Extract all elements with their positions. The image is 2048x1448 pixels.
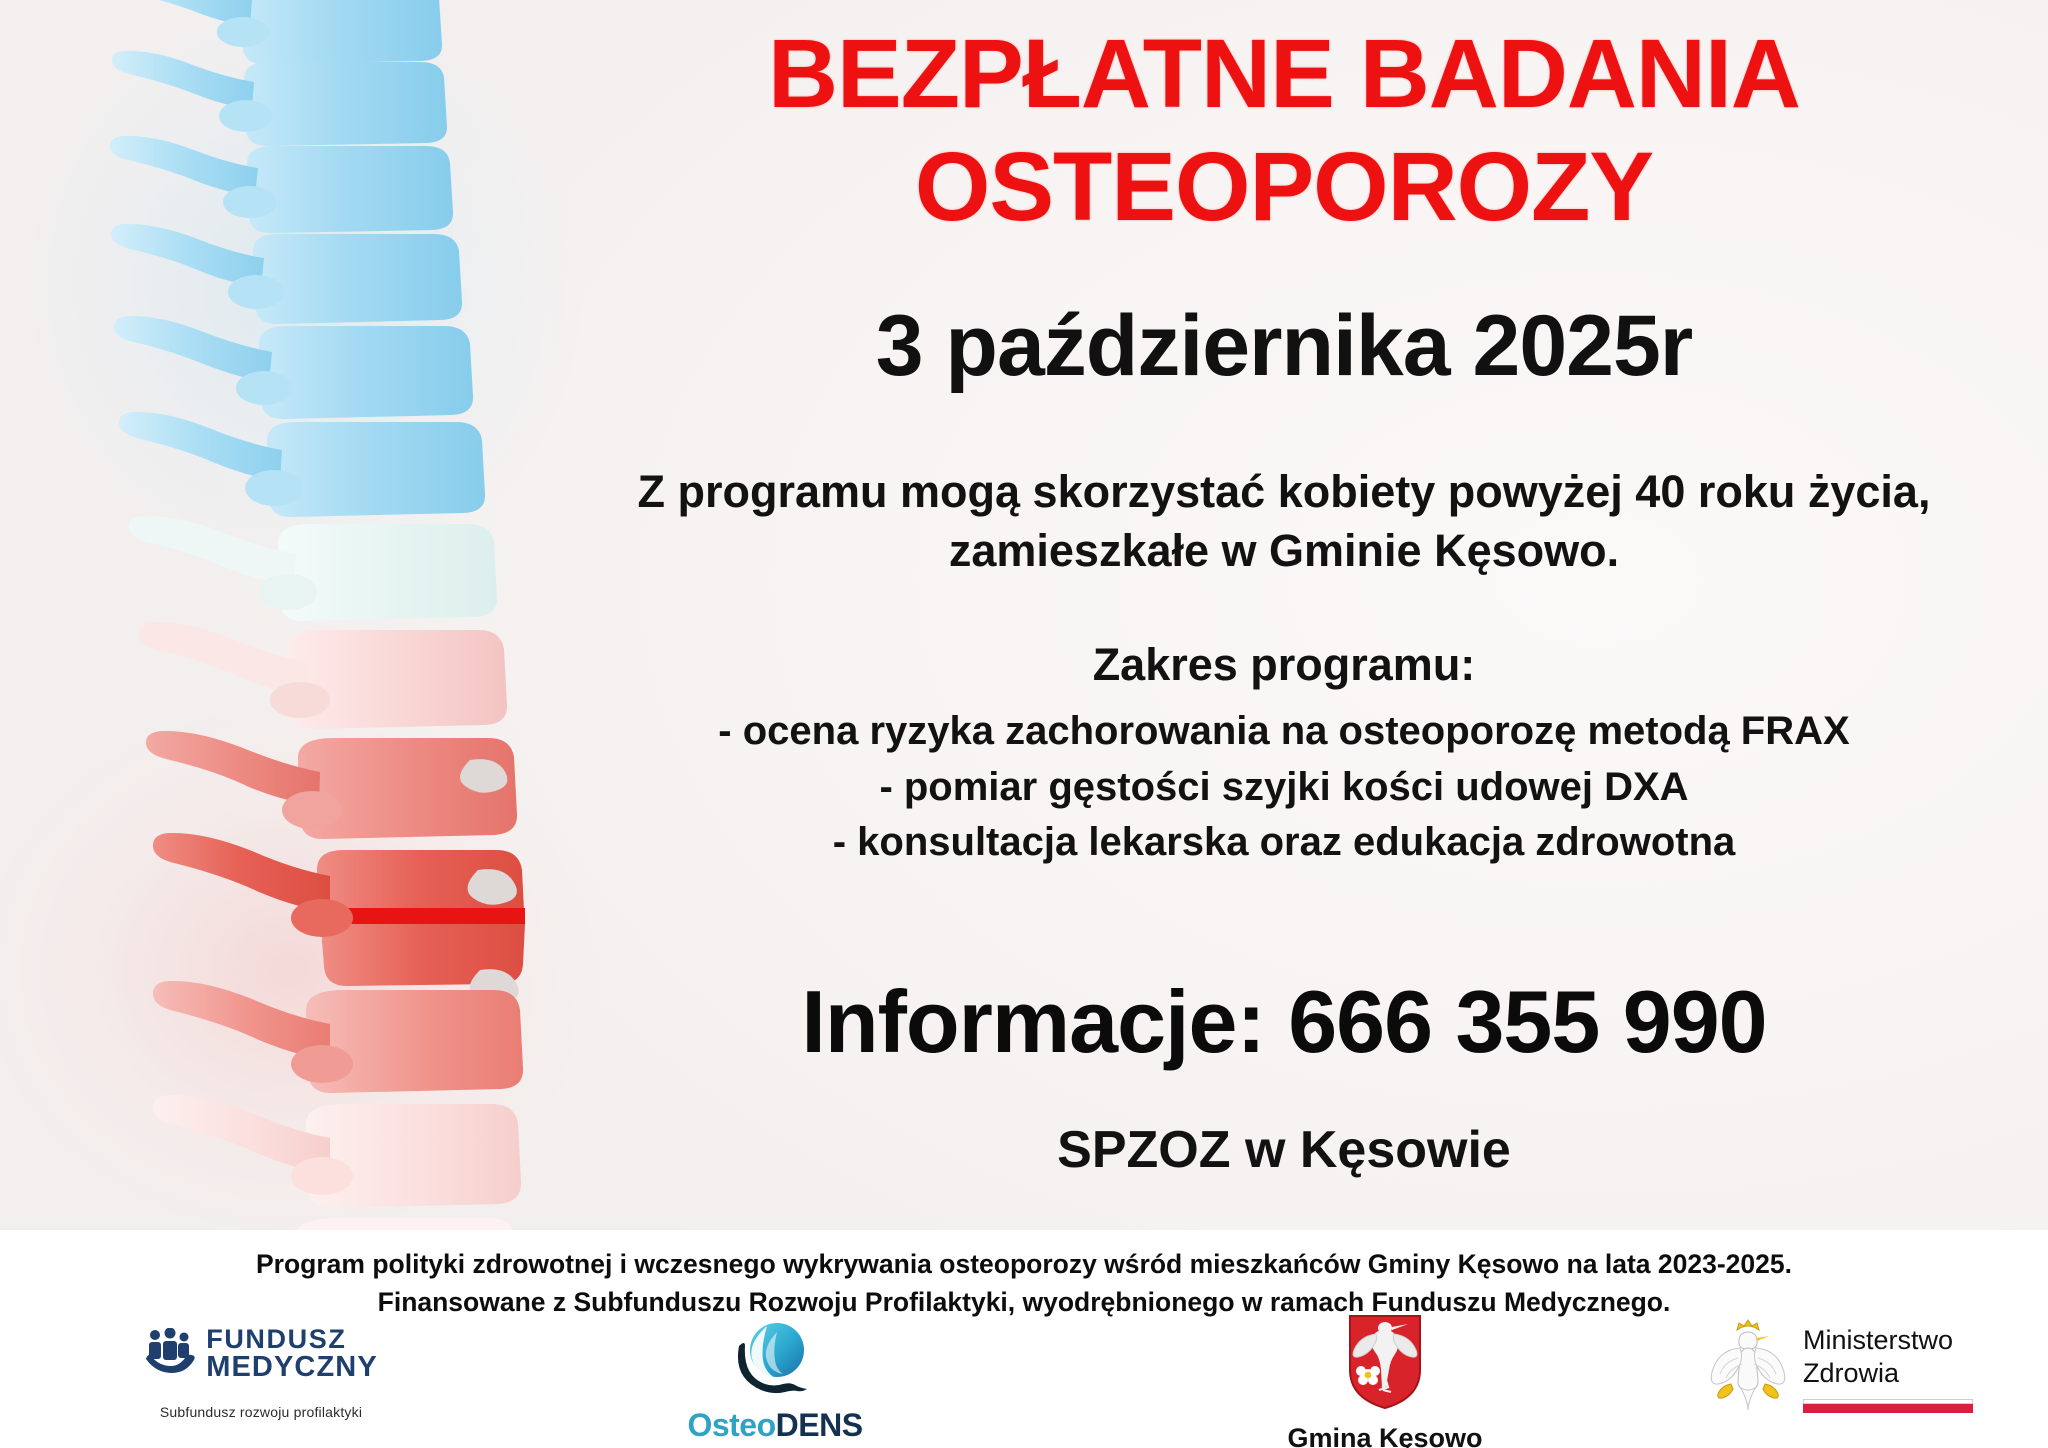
compressed-disc — [341, 908, 525, 924]
headline-line-1: BEZPŁATNE BADANIA — [768, 18, 1800, 131]
logo-gmina-kesowo: Gmina Kęsowo — [1285, 1312, 1485, 1448]
ministerstwo-zdrowia-line-2: Zdrowia — [1803, 1357, 1973, 1390]
logo-osteodens: OsteoDENS — [660, 1318, 890, 1444]
osteodens-word-osteo: Osteo — [687, 1407, 775, 1443]
list-item: - pomiar gęstości szyjki kości udowej DX… — [584, 760, 1984, 815]
vertebra-group-healthy — [110, 0, 485, 517]
fundusz-medyczny-line-2: MEDYCZNY — [206, 1353, 378, 1382]
footer-line-1: Program polityki zdrowotnej i wczesnego … — [0, 1246, 2048, 1284]
poster-root: BEZPŁATNE BADANIA OSTEOPOROZY 3 paździer… — [0, 0, 2048, 1448]
fundusz-medyczny-icon — [144, 1328, 196, 1381]
page-title: BEZPŁATNE BADANIA OSTEOPOROZY — [768, 18, 1800, 243]
eligibility-line-1: Z programu mogą skorzystać kobiety powyż… — [614, 463, 1954, 522]
fundusz-medyczny-line-1: FUNDUSZ — [206, 1326, 378, 1353]
vertebra-group-transition — [129, 516, 507, 729]
polish-flag-bars — [1803, 1399, 1973, 1413]
logo-ministerstwo-zdrowia: Ministerstwo Zdrowia — [1690, 1318, 1990, 1419]
eligibility-text: Z programu mogą skorzystać kobiety powyż… — [614, 463, 1954, 580]
list-item: - ocena ryzyka zachorowania na osteoporo… — [584, 704, 1984, 759]
footer-line-2: Finansowane z Subfunduszu Rozwoju Profil… — [0, 1284, 2048, 1322]
vertebra-group-affected — [146, 731, 525, 1260]
osteodens-word-dens: DENS — [776, 1407, 863, 1443]
scope-list: - ocena ryzyka zachorowania na osteoporo… — [584, 704, 1984, 870]
scope-title: Zakres programu: — [1093, 638, 1476, 692]
eligibility-line-2: zamieszkałe w Gminie Kęsowo. — [614, 522, 1954, 581]
osteodens-icon — [727, 1318, 823, 1405]
provider-name: SPZOZ w Kęsowie — [1057, 1122, 1511, 1179]
fundusz-medyczny-subtitle: Subfundusz rozwoju profilaktyki — [160, 1404, 362, 1420]
logo-strip: FUNDUSZ MEDYCZNY Subfundusz rozwoju prof… — [0, 1318, 2048, 1448]
event-date: 3 października 2025r — [876, 301, 1693, 391]
polish-eagle-icon — [1707, 1318, 1789, 1419]
gmina-kesowo-caption: Gmina Kęsowo — [1287, 1423, 1482, 1448]
list-item: - konsultacja lekarska oraz edukacja zdr… — [584, 815, 1984, 870]
poster-content: BEZPŁATNE BADANIA OSTEOPOROZY 3 paździer… — [520, 0, 2048, 1240]
ministerstwo-zdrowia-line-1: Ministerstwo — [1803, 1324, 1973, 1357]
contact-phone: Informacje: 666 355 990 — [801, 976, 1766, 1068]
footer-funding-text: Program polityki zdrowotnej i wczesnego … — [0, 1230, 2048, 1321]
gmina-kesowo-coat-of-arms-icon — [1344, 1312, 1426, 1417]
footer: Program polityki zdrowotnej i wczesnego … — [0, 1230, 2048, 1448]
headline-line-2: OSTEOPOROZY — [768, 131, 1800, 244]
logo-fundusz-medyczny: FUNDUSZ MEDYCZNY Subfundusz rozwoju prof… — [116, 1326, 406, 1420]
